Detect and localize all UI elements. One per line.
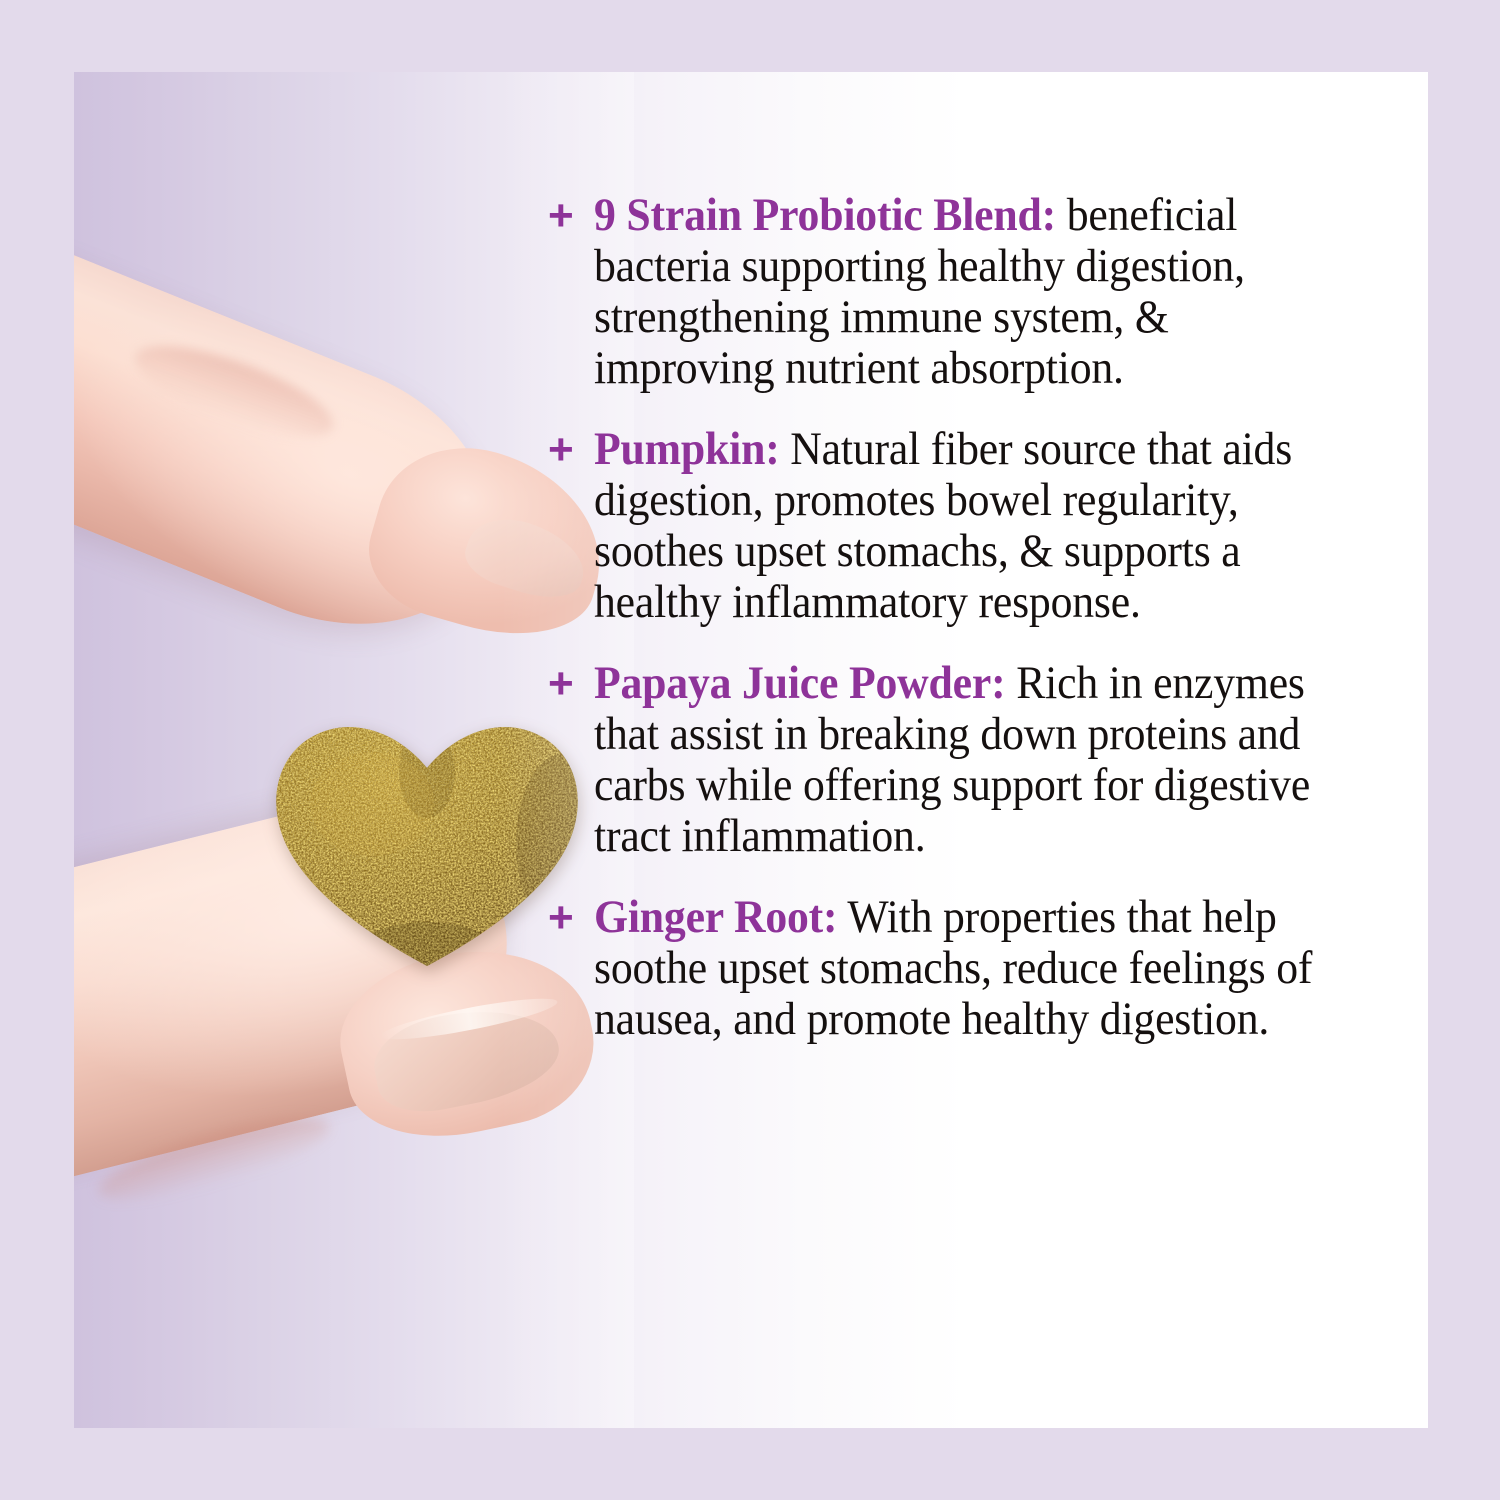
list-item: + Pumpkin: Natural fiber source that aid… bbox=[548, 424, 1378, 628]
plus-icon: + bbox=[548, 190, 594, 240]
ingredient-benefits-list: + 9 Strain Probiotic Blend: beneficial b… bbox=[548, 190, 1378, 1045]
heart-shaped-treat bbox=[262, 694, 592, 979]
plus-icon: + bbox=[548, 424, 594, 474]
list-item: + 9 Strain Probiotic Blend: beneficial b… bbox=[548, 190, 1378, 394]
plus-icon: + bbox=[548, 658, 594, 708]
content-panel: + 9 Strain Probiotic Blend: beneficial b… bbox=[74, 72, 1428, 1428]
list-item: + Ginger Root: With properties that help… bbox=[548, 892, 1378, 1045]
product-infographic: + 9 Strain Probiotic Blend: beneficial b… bbox=[0, 0, 1500, 1500]
ingredient-heading: Ginger Root: bbox=[594, 891, 837, 943]
list-item-text: 9 Strain Probiotic Blend: beneficial bac… bbox=[594, 190, 1323, 394]
list-item-text: Pumpkin: Natural fiber source that aids … bbox=[594, 424, 1323, 628]
plus-icon: + bbox=[548, 892, 594, 942]
list-item: + Papaya Juice Powder: Rich in enzymes t… bbox=[548, 658, 1378, 862]
ingredient-heading: Papaya Juice Powder: bbox=[594, 657, 1005, 709]
ingredient-heading: 9 Strain Probiotic Blend: bbox=[594, 189, 1056, 241]
ingredient-heading: Pumpkin: bbox=[594, 423, 780, 475]
list-item-text: Papaya Juice Powder: Rich in enzymes tha… bbox=[594, 658, 1323, 862]
list-item-text: Ginger Root: With properties that help s… bbox=[594, 892, 1323, 1045]
